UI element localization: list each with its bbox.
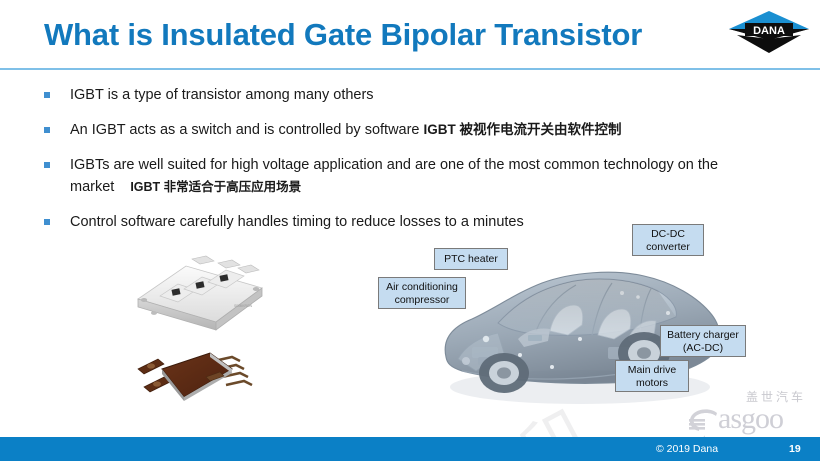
bullet-square-icon: [44, 162, 50, 168]
bullet-list: IGBT is a type of transistor among many …: [44, 84, 804, 246]
footer-page-number: 19: [789, 443, 801, 455]
bullet-text-en-2: An IGBT acts as a switch and is controll…: [70, 122, 424, 138]
list-item: IGBT is a type of transistor among many …: [44, 84, 804, 106]
slide-canvas: What is Insulated Gate Bipolar Transisto…: [0, 0, 820, 461]
callout-dc-dc-converter: DC-DC converter: [632, 224, 704, 256]
igbt-power-module-brown-image: [128, 347, 268, 409]
callout-ptc-label: PTC heater: [444, 253, 498, 265]
title-divider: [0, 68, 820, 70]
igbt-power-module-gray-image: SEMIKRON: [130, 255, 280, 333]
bullet-text-1: IGBT is a type of transistor among many …: [70, 84, 804, 106]
callout-battery-charger: Battery charger (AC-DC): [660, 325, 746, 357]
callout-battery-label-line1: Battery charger: [667, 329, 739, 341]
footer-copyright: © 2019 Dana: [656, 443, 718, 455]
bullet-text-en-1: IGBT is a type of transistor among many …: [70, 87, 374, 103]
bullet-text-3: IGBTs are well suited for high voltage a…: [70, 154, 804, 198]
callout-dcdc-label-line2: converter: [646, 241, 690, 253]
dana-logo: DANA: [727, 9, 811, 55]
bullet-text-cn-3: IGBT 非常适合于高压应用场景: [130, 180, 301, 194]
bullet-square-icon: [44, 92, 50, 98]
callout-motors-label-line1: Main drive: [628, 364, 676, 376]
callout-ac-label-line2: compressor: [395, 294, 450, 306]
svg-text:SEMIKRON: SEMIKRON: [234, 304, 253, 308]
dana-logo-text: DANA: [753, 25, 785, 37]
callout-dcdc-label-line1: DC-DC: [651, 228, 685, 240]
callout-ac-label-line1: Air conditioning: [386, 281, 458, 293]
callout-battery-label-line2: (AC-DC): [683, 342, 723, 354]
bullet-square-icon: [44, 127, 50, 133]
bullet-text-2: An IGBT acts as a switch and is controll…: [70, 119, 804, 141]
list-item: An IGBT acts as a switch and is controll…: [44, 119, 804, 141]
page-title: What is Insulated Gate Bipolar Transisto…: [44, 17, 642, 53]
callout-air-conditioning-compressor: Air conditioning compressor: [378, 277, 466, 309]
bullet-text-cn-2: IGBT 被视作电流开关由软件控制: [424, 122, 622, 137]
callout-main-drive-motors: Main drive motors: [615, 360, 689, 392]
list-item: IGBTs are well suited for high voltage a…: [44, 154, 804, 198]
callout-motors-label-line2: motors: [636, 377, 668, 389]
callout-ptc-heater: PTC heater: [434, 248, 508, 270]
